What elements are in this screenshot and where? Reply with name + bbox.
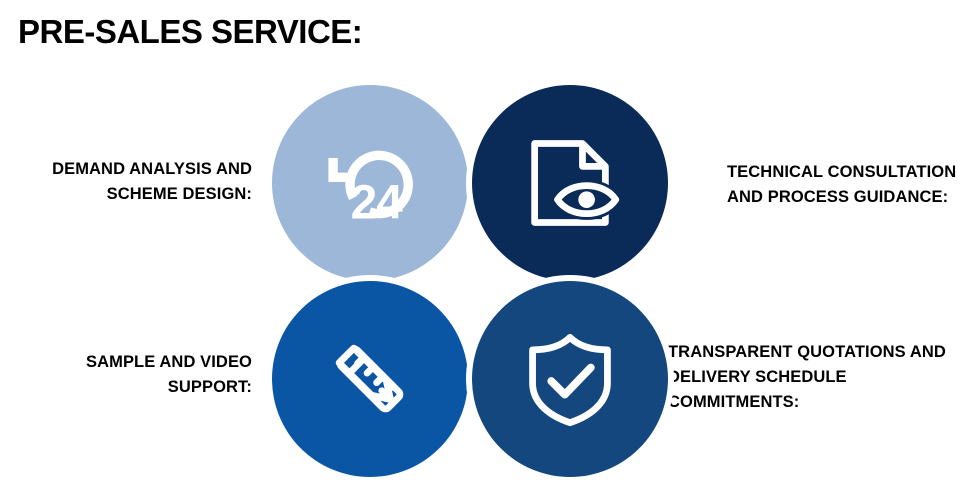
circle-demand-analysis[interactable]: 24: [272, 85, 468, 281]
label-technical-consultation: TECHNICAL CONSULTATION AND PROCESS GUIDA…: [727, 160, 957, 210]
page-title: PRE-SALES SERVICE:: [18, 12, 362, 52]
shield-check-icon: [518, 327, 622, 431]
circle-transparent-quotations[interactable]: [472, 281, 668, 477]
pencil-ruler-design-icon: [318, 327, 422, 431]
circle-sample-video-support[interactable]: [272, 281, 468, 477]
svg-text:24: 24: [351, 176, 404, 229]
document-eye-review-icon: [518, 131, 622, 235]
label-transparent-quotations: TRANSPARENT QUOTATIONS AND DELIVERY SCHE…: [668, 340, 960, 415]
label-demand-analysis: DEMAND ANALYSIS AND SCHEME DESIGN:: [10, 157, 252, 207]
pre-sales-service-infographic: PRE-SALES SERVICE: 24: [0, 0, 960, 498]
circle-technical-consultation[interactable]: [472, 85, 668, 281]
label-sample-video-support: SAMPLE AND VIDEO SUPPORT:: [10, 350, 252, 400]
clock-24-rotate-icon: 24: [318, 131, 422, 235]
circle-cluster: 24: [272, 85, 668, 477]
